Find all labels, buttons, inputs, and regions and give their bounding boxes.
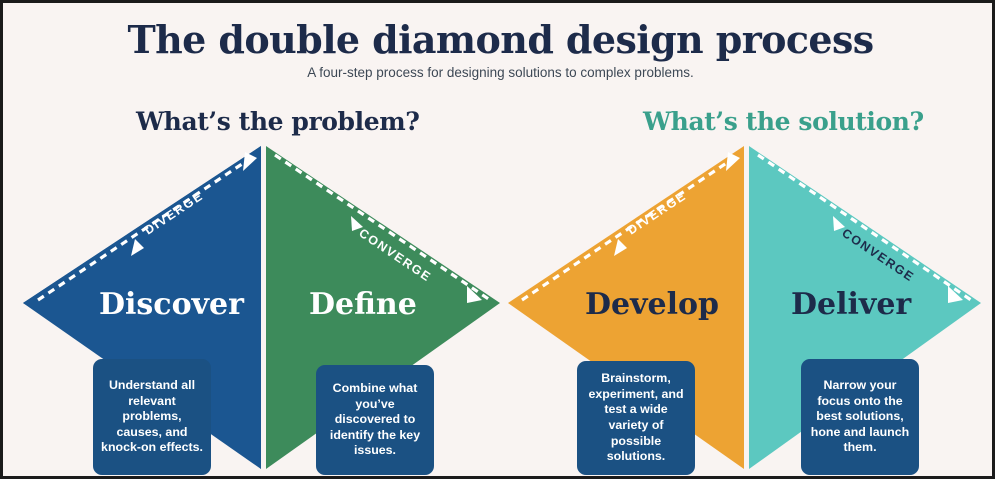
caption-bubble-define[interactable]: Combine what you’ve discovered to identi… — [316, 365, 434, 475]
wedge-label-define: Define — [309, 287, 417, 322]
caption-text-deliver: Narrow your focus onto the best solution… — [809, 378, 911, 456]
caption-text-develop: Brainstorm, experiment, and test a wide … — [585, 371, 687, 465]
infographic-canvas: The double diamond design process A four… — [0, 0, 995, 479]
caption-bubble-discover[interactable]: Understand all relevant problems, causes… — [93, 359, 211, 475]
caption-bubble-deliver[interactable]: Narrow your focus onto the best solution… — [801, 359, 919, 475]
wedge-label-deliver: Deliver — [791, 287, 912, 322]
wedge-label-develop: Develop — [585, 287, 719, 322]
caption-bubble-develop[interactable]: Brainstorm, experiment, and test a wide … — [577, 361, 695, 475]
caption-text-define: Combine what you’ve discovered to identi… — [324, 381, 426, 459]
wedge-label-discover: Discover — [99, 287, 245, 322]
caption-text-discover: Understand all relevant problems, causes… — [101, 378, 203, 456]
